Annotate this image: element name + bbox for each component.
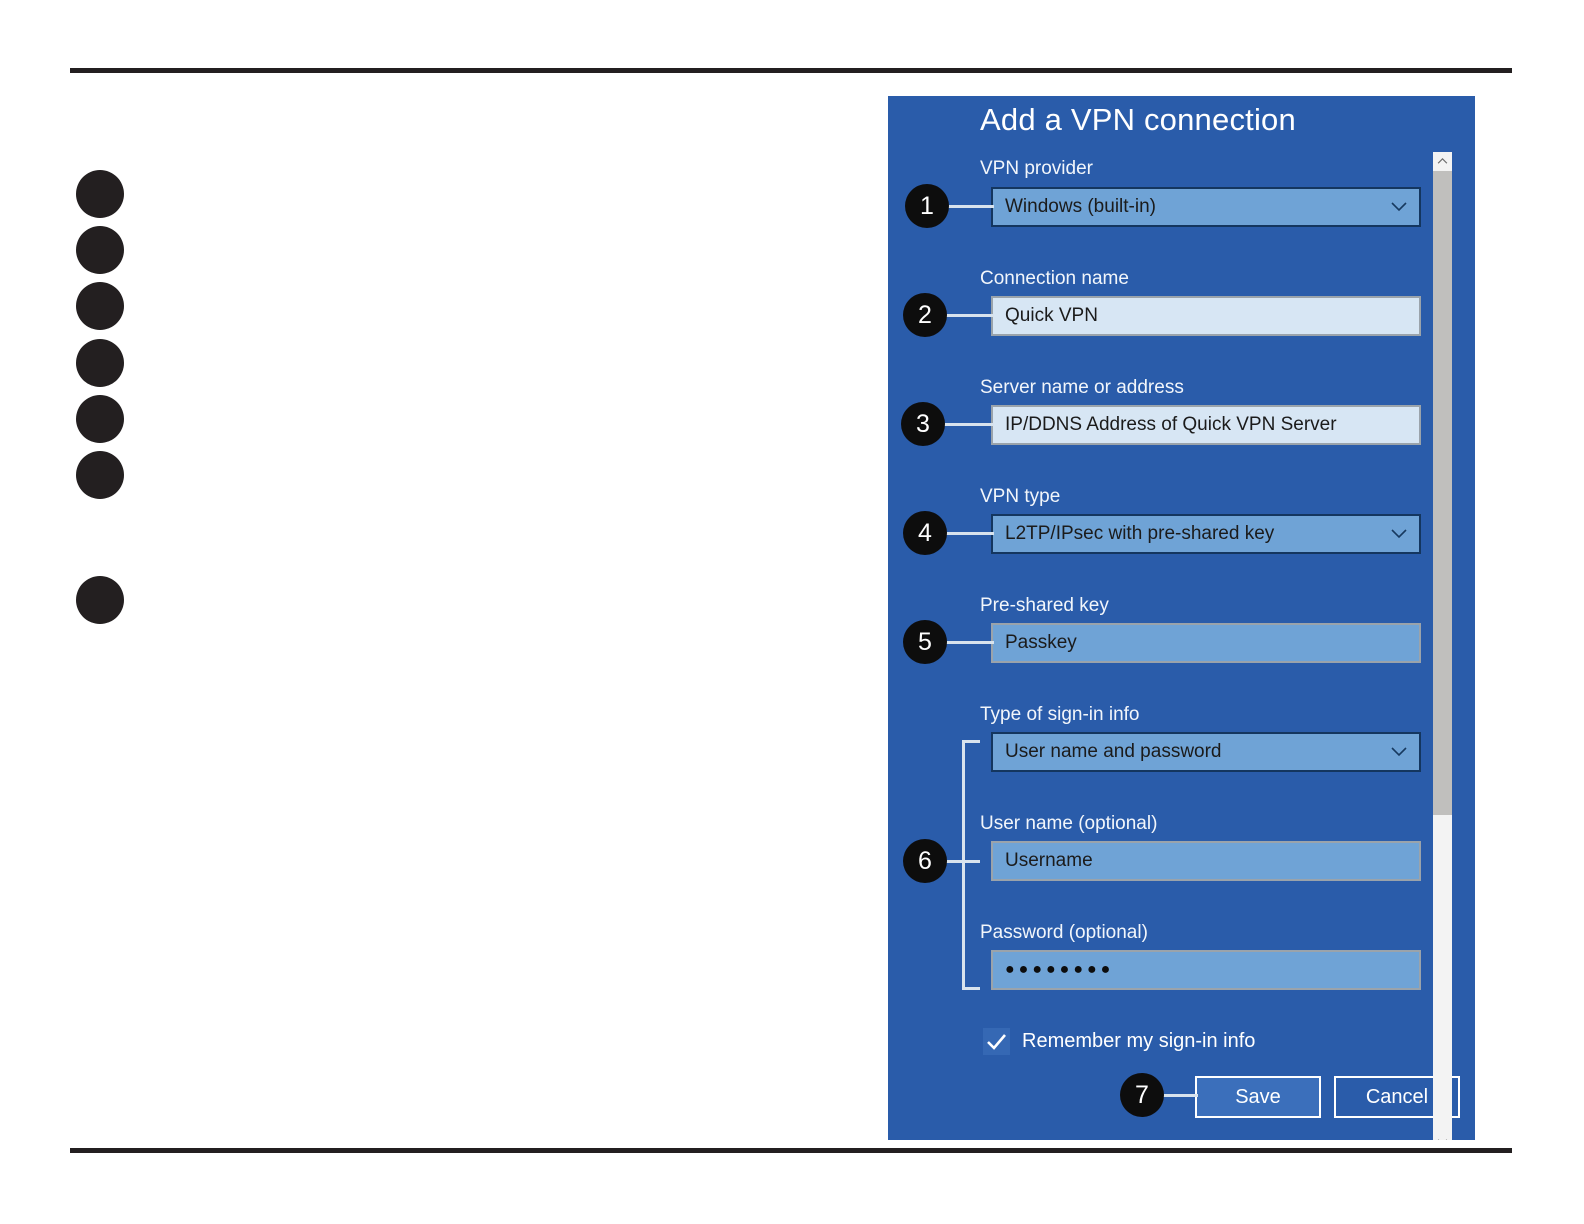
label-pre-shared-key: Pre-shared key [980,595,1109,617]
bullet-marker-6 [76,451,124,499]
label-connection-name: Connection name [980,268,1129,290]
remember-sign-in-checkbox[interactable] [983,1028,1010,1055]
callout-badge-5: 5 [903,620,947,664]
callout-badge-1: 1 [905,184,949,228]
remember-sign-in-label: Remember my sign-in info [1022,1030,1255,1053]
save-button[interactable]: Save [1195,1076,1321,1118]
scrollbar-thumb[interactable] [1433,171,1452,815]
callout-leader-2 [946,314,994,317]
server-name-value: IP/DDNS Address of Quick VPN Server [1005,414,1337,436]
callout-badge-6: 6 [903,839,947,883]
vpn-provider-value: Windows (built-in) [1005,196,1156,218]
bullet-marker-7 [76,576,124,624]
chevron-down-icon [1391,202,1407,212]
user-name-input[interactable]: Username [991,841,1421,881]
remember-sign-in-checkbox-row[interactable]: Remember my sign-in info [983,1028,1255,1055]
vpn-provider-dropdown[interactable]: Windows (built-in) [991,187,1421,227]
label-user-name: User name (optional) [980,813,1157,835]
bullet-marker-4 [76,339,124,387]
callout-leader-7 [1162,1094,1198,1097]
vpn-type-dropdown[interactable]: L2TP/IPsec with pre-shared key [991,514,1421,554]
callout-leader-4 [946,532,994,535]
password-value: ●●●●●●●● [1005,962,1114,978]
pre-shared-key-value: Passkey [1005,632,1077,654]
chevron-up-icon [1437,158,1448,165]
label-vpn-type: VPN type [980,486,1060,508]
callout-badge-3: 3 [901,402,945,446]
label-server-name: Server name or address [980,377,1184,399]
callout-badge-4: 4 [903,511,947,555]
callout-leader-3 [944,423,994,426]
check-icon [983,1028,1010,1055]
connection-name-value: Quick VPN [1005,305,1098,327]
bullet-marker-2 [76,226,124,274]
user-name-value: Username [1005,850,1093,872]
scroll-up-button[interactable] [1433,152,1452,171]
callout-leader-5 [946,641,994,644]
label-password: Password (optional) [980,922,1148,944]
dialog-title: Add a VPN connection [980,102,1296,138]
chevron-down-icon [1437,1138,1448,1140]
password-input[interactable]: ●●●●●●●● [991,950,1421,990]
sign-in-type-value: User name and password [1005,741,1222,763]
pre-shared-key-input[interactable]: Passkey [991,623,1421,663]
callout-leader-6 [946,860,980,863]
page-top-rule [70,68,1512,73]
label-vpn-provider: VPN provider [980,158,1093,180]
label-sign-in-type: Type of sign-in info [980,704,1139,726]
vpn-type-value: L2TP/IPsec with pre-shared key [1005,523,1274,545]
callout-leader-1 [946,205,994,208]
chevron-down-icon [1391,529,1407,539]
server-name-input[interactable]: IP/DDNS Address of Quick VPN Server [991,405,1421,445]
sign-in-type-dropdown[interactable]: User name and password [991,732,1421,772]
callout-bracket-6 [962,740,980,990]
bullet-marker-5 [76,395,124,443]
page-bottom-rule [70,1148,1512,1153]
bullet-marker-1 [76,170,124,218]
scroll-down-button[interactable] [1433,1132,1452,1140]
dialog-scrollbar[interactable] [1433,152,1452,1140]
callout-badge-7: 7 [1120,1073,1164,1117]
bullet-marker-3 [76,282,124,330]
connection-name-input[interactable]: Quick VPN [991,296,1421,336]
chevron-down-icon [1391,747,1407,757]
callout-badge-2: 2 [903,293,947,337]
